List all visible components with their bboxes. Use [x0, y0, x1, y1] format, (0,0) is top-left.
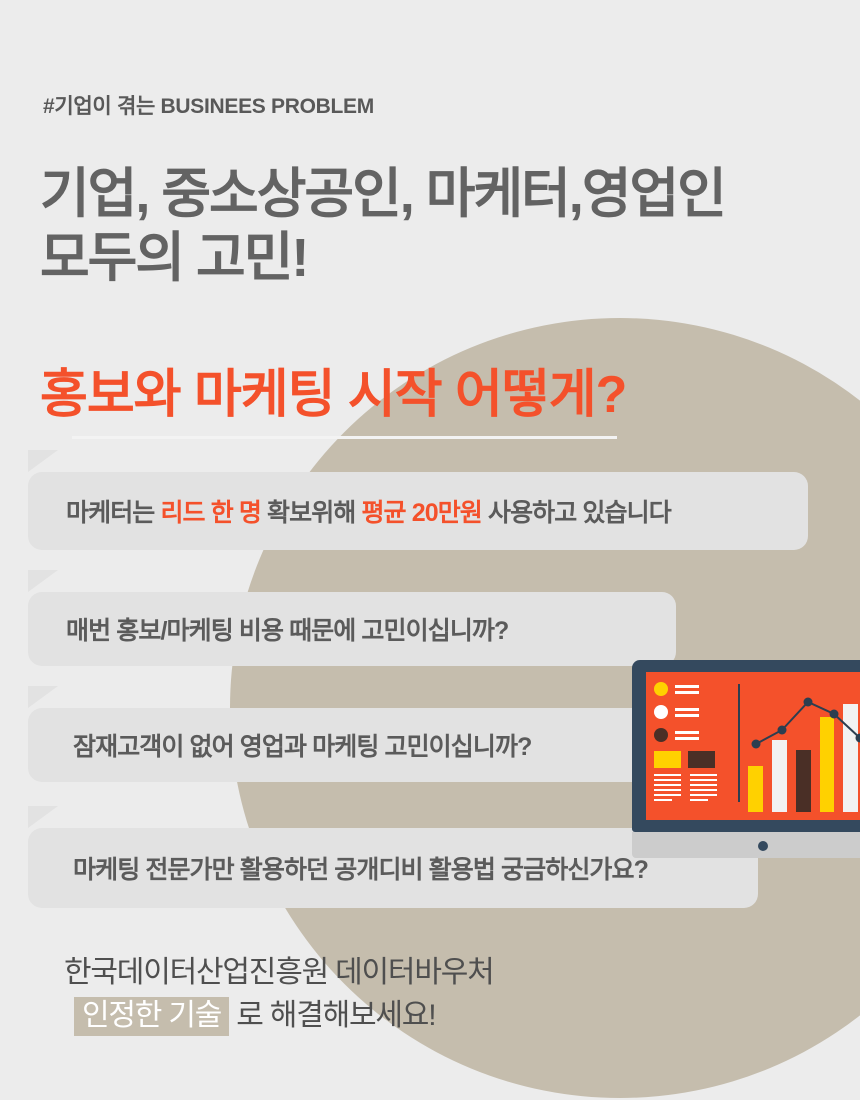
swatch: [654, 751, 681, 768]
monitor-power-dot-icon: [758, 841, 768, 851]
bubble-text-plain: 매번 홍보/마케팅 비용 때문에 고민이십니까?: [66, 617, 508, 645]
swatch: [688, 751, 715, 768]
chart-bar: [772, 740, 787, 812]
bubble-text: 마케팅 전문가만 활용하던 공개디비 활용법 궁금하신가요?: [73, 850, 648, 886]
legend-lines-icon: [675, 708, 699, 717]
footer-cta: 한국데이터산업진흥원 데이터바우처 인정한 기술 로 해결해보세요!: [64, 952, 494, 1037]
bubble-text: 잠재고객이 없어 영업과 마케팅 고민이십니까?: [73, 727, 531, 763]
bubble-text: 마케터는 리드 한 명 확보위해 평균 20만원 사용하고 있습니다: [66, 493, 671, 529]
footer-line-2-suffix: 로 해결해보세요!: [229, 999, 435, 1032]
page-title: 기업, 중소상공인, 마케터,영업인 모두의 고민!: [40, 163, 725, 290]
footer-line-1: 한국데이터산업진흥원 데이터바우처: [64, 952, 494, 995]
bubble-text-plain: 사용하고 있습니다: [482, 499, 671, 527]
chart-bars: [748, 694, 860, 812]
divider: [72, 436, 617, 439]
legend-dot-icon: [654, 705, 668, 719]
speech-bubble-lead-cost: 마케터는 리드 한 명 확보위해 평균 20만원 사용하고 있습니다: [28, 472, 808, 550]
bubble-text-highlight: 평균 20만원: [361, 499, 481, 527]
bubble-tail-icon: [28, 686, 58, 708]
legend-lines-icon: [675, 685, 699, 694]
bubble-text-plain: 확보위해: [261, 499, 362, 527]
eyebrow-label: #기업이 겪는 BUSINEES PROBLEM: [43, 90, 374, 120]
chart-y-axis: [738, 684, 740, 802]
legend-dot-icon: [654, 728, 668, 742]
chart-bar: [748, 766, 763, 812]
bubble-text-plain: 마케팅 전문가만 활용하던 공개디비 활용법 궁금하신가요?: [73, 856, 648, 884]
dashboard-chart: [738, 684, 860, 812]
footer-highlight: 인정한 기술: [74, 997, 229, 1036]
bubble-text-highlight: 리드 한 명: [160, 499, 261, 527]
speech-bubble-no-prospects: 잠재고객이 없어 영업과 마케팅 고민이십니까?: [28, 708, 676, 782]
bubble-text-plain: 마케터는: [66, 499, 160, 527]
legend-lines-icon: [675, 731, 699, 740]
monitor-screen: [646, 672, 860, 820]
monitor-chin: [632, 832, 860, 858]
page-subtitle-red: 홍보와 마케팅 시작 어떻게?: [40, 352, 626, 427]
text-lines-icon: [654, 774, 681, 801]
monitor-illustration: [632, 660, 860, 858]
dashboard-legend: [654, 682, 717, 801]
dashboard-textblocks: [654, 774, 717, 801]
chart-bar: [843, 704, 858, 812]
monitor-bezel: [632, 660, 860, 832]
legend-dot-icon: [654, 682, 668, 696]
legend-item: [654, 682, 717, 696]
promo-page: #기업이 겪는 BUSINEES PROBLEM 기업, 중소상공인, 마케터,…: [0, 0, 860, 1100]
bubble-tail-icon: [28, 806, 58, 828]
dashboard-swatches: [654, 751, 717, 768]
legend-item: [654, 728, 717, 742]
bubble-tail-icon: [28, 570, 58, 592]
bubble-text: 매번 홍보/마케팅 비용 때문에 고민이십니까?: [66, 611, 508, 647]
text-lines-icon: [690, 774, 717, 801]
footer-line-2: 인정한 기술 로 해결해보세요!: [64, 995, 494, 1038]
bubble-text-plain: 잠재고객이 없어 영업과 마케팅 고민이십니까?: [73, 733, 531, 761]
chart-bar: [796, 750, 811, 812]
bubble-tail-icon: [28, 450, 58, 472]
speech-bubble-marketing-cost: 매번 홍보/마케팅 비용 때문에 고민이십니까?: [28, 592, 676, 666]
legend-item: [654, 705, 717, 719]
chart-bar: [820, 717, 835, 812]
